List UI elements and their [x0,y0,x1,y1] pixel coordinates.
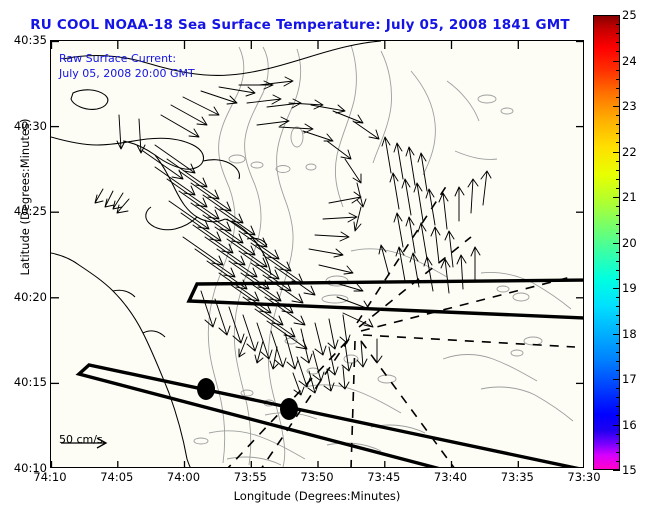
colorbar-tick-label: 22 [622,145,637,159]
x-tick-label: 73:40 [421,470,481,484]
x-tick-label: 74:05 [87,470,147,484]
colorbar-tick-label: 19 [622,281,637,295]
station-marker-1 [197,378,215,400]
colorbar-gradient [593,15,620,470]
x-tick-label: 73:45 [354,470,414,484]
annotation-line-2: July 05, 2008 20:00 GMT [59,66,195,81]
colorbar-tick-label: 15 [622,463,637,477]
plot-annotation: Raw Surface Current: July 05, 2008 20:00… [59,51,195,81]
station-marker-2 [280,398,298,420]
colorbar-tick-label: 17 [622,372,637,386]
x-tick-label: 73:50 [287,470,347,484]
y-tick-label: 40:35 [3,33,47,47]
right-arrow-icon [59,436,119,450]
annotation-line-1: Raw Surface Current: [59,51,195,66]
x-axis-label: Longitude (Degrees:Minutes) [50,489,584,503]
colorbar-tick-label: 21 [622,190,637,204]
x-tick-label: 73:35 [487,470,547,484]
colorbar-tick-label: 20 [622,236,637,250]
colorbar-major-tick [613,470,620,471]
coastline [51,41,381,468]
colorbar-tick-label: 18 [622,327,637,341]
x-tick-label: 74:10 [20,470,80,484]
x-axis-ticks: 74:10 74:05 74:00 73:55 73:50 73:45 73:4… [50,470,584,490]
figure-canvas: RU COOL NOAA-18 Sea Surface Temperature:… [0,0,651,518]
colorbar-tick-label: 25 [622,8,637,22]
colorbar-tick-label: 16 [622,418,637,432]
y-tick-label: 40:15 [3,375,47,389]
map-graphics [51,41,584,468]
x-tick-label: 73:55 [220,470,280,484]
colorbar-tick-labels: 2524232221201918171615 [622,15,648,470]
x-tick-label: 74:00 [154,470,214,484]
map-plot-area[interactable]: Raw Surface Current: July 05, 2008 20:00… [50,40,584,468]
colorbar-tick-label: 24 [622,54,637,68]
vector-scale-key: 50 cm/s [59,433,103,446]
x-tick-label: 73:30 [554,470,614,484]
shipping-lane-polygons [79,280,584,468]
y-axis-label: Latitude (Degrees:Minutes) [18,87,32,307]
figure-title: RU COOL NOAA-18 Sea Surface Temperature:… [0,17,600,33]
colorbar-tick-label: 23 [622,99,637,113]
